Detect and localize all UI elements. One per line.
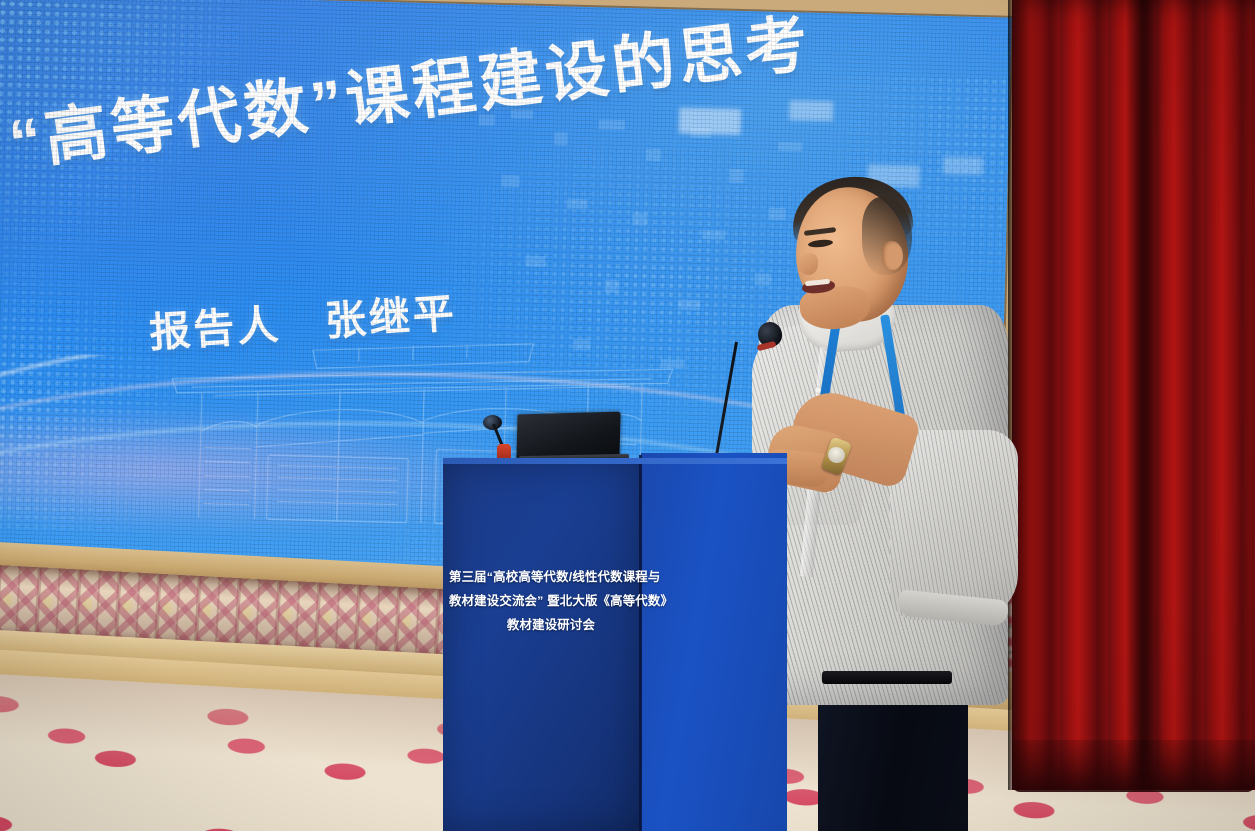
- presentation-photo: “高等代数”课程建设的思考 报告人 张继平: [0, 0, 1255, 831]
- screen-highlight: [679, 107, 742, 135]
- podium-banner-line-1: 第三届“高校高等代数/线性代数课程与: [449, 566, 647, 590]
- podium-banner-text: 第三届“高校高等代数/线性代数课程与 教材建设交流会” 暨北大版《高等代数》 教…: [449, 566, 647, 637]
- curtain-fold-shadow: [1125, 0, 1163, 790]
- podium-front-panel: [443, 461, 641, 831]
- speaker-ear: [882, 241, 903, 270]
- podium-top-edge: [443, 458, 787, 464]
- podium-side-panel: [641, 453, 787, 831]
- podium-seam: [639, 455, 642, 831]
- screen-highlight: [943, 156, 983, 175]
- speaker-nose: [798, 253, 818, 275]
- screen-highlight: [789, 100, 833, 121]
- curtain-hem: [1012, 740, 1255, 792]
- podium-banner-line-2: 教材建设交流会” 暨北大版《高等代数》: [449, 590, 647, 614]
- speaker-belt: [822, 671, 952, 684]
- podium-banner-line-3: 教材建设研讨会: [449, 614, 647, 638]
